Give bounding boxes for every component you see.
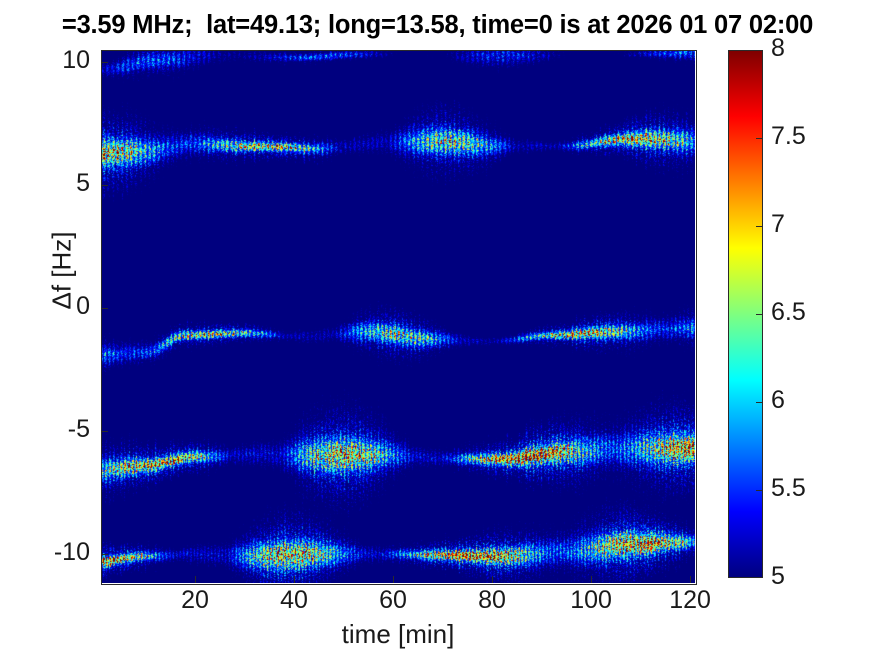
y-tick-mark — [101, 185, 108, 186]
x-axis-label: time [min] — [101, 619, 695, 650]
figure-title: =3.59 MHz; lat=49.13; long=13.58, time=0… — [0, 8, 875, 42]
y-tick-label: 10 — [5, 46, 90, 75]
y-tick-mark — [101, 431, 108, 432]
colorbar-tick-label: 7 — [771, 210, 785, 239]
x-tick-mark — [492, 576, 493, 583]
x-tick-mark — [690, 576, 691, 583]
y-tick-mark — [101, 62, 108, 63]
x-tick-label: 60 — [338, 586, 448, 615]
colorbar-tick-mark — [756, 138, 763, 139]
x-tick-mark — [591, 576, 592, 583]
colorbar-tick-label: 5 — [771, 562, 785, 591]
colorbar-tick-mark — [756, 314, 763, 315]
colorbar-tick-label: 8 — [771, 34, 785, 63]
x-tick-label: 80 — [437, 586, 547, 615]
y-tick-label: -5 — [5, 415, 90, 444]
spectrogram-image — [101, 50, 695, 583]
x-tick-label: 100 — [536, 586, 646, 615]
y-tick-label: -10 — [5, 538, 90, 567]
x-tick-label: 120 — [635, 586, 745, 615]
y-tick-mark — [101, 554, 108, 555]
x-tick-mark — [294, 576, 295, 583]
y-axis-label: Δf [Hz] — [47, 171, 78, 371]
x-tick-mark — [393, 576, 394, 583]
colorbar-tick-mark — [756, 226, 763, 227]
colorbar-tick-label: 6.5 — [771, 298, 806, 327]
x-tick-label: 20 — [140, 586, 250, 615]
x-tick-mark — [195, 576, 196, 583]
colorbar-tick-mark — [756, 490, 763, 491]
colorbar-tick-label: 6 — [771, 386, 785, 415]
colorbar-tick-label: 5.5 — [771, 474, 806, 503]
colorbar-tick-mark — [756, 402, 763, 403]
colorbar-tick-label: 7.5 — [771, 122, 806, 151]
x-tick-label: 40 — [239, 586, 349, 615]
y-tick-mark — [101, 308, 108, 309]
spectrogram-plot-area — [101, 50, 695, 583]
